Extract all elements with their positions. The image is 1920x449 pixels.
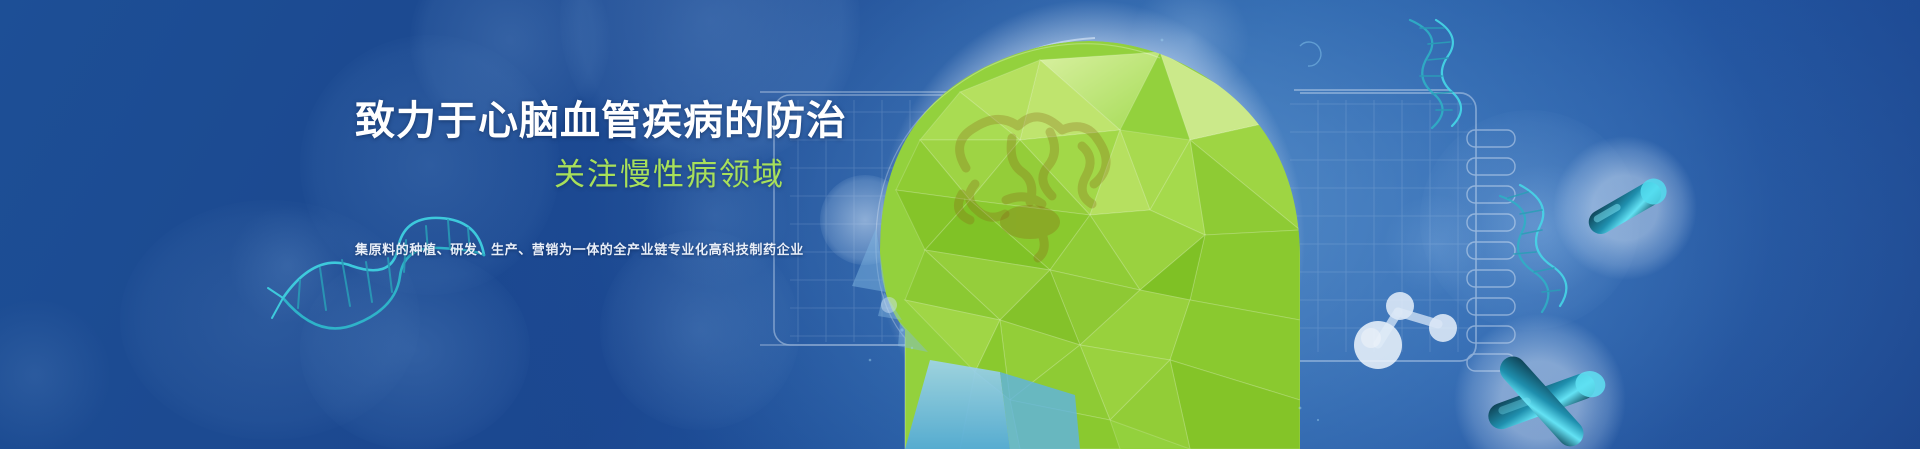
bokeh-circle (228, 205, 348, 325)
micro-specks (869, 39, 1319, 422)
banner-copy: 致力于心脑血管疾病的防治 关注慢性病领域 集原料的种植、研发、生产、营销为一体的… (355, 96, 785, 258)
bokeh-circle (820, 175, 910, 265)
bokeh-circle (1130, 0, 1250, 100)
chromosome-rod (1553, 136, 1697, 280)
micro-ring (1300, 42, 1321, 66)
bokeh-circle (1385, 195, 1485, 295)
face-profile-edge (845, 44, 1160, 449)
head-halo (875, 0, 1305, 449)
head-outline-arc (916, 38, 1095, 449)
low-poly-human-head-profile (880, 41, 1300, 449)
chromosome-x (1454, 314, 1626, 449)
dna-helix-right (1500, 185, 1566, 312)
bokeh-circle (300, 250, 530, 449)
bokeh-circle (1480, 165, 1610, 295)
molecule-icon (1354, 292, 1457, 369)
hero-banner: 致力于心脑血管疾病的防治 关注慢性病领域 集原料的种植、研发、生产、营销为一体的… (0, 0, 1920, 449)
neck-shoulder (905, 360, 1080, 449)
page-subtitle: 关注慢性病领域 (355, 152, 785, 199)
brain-overlay (958, 117, 1106, 220)
headline-suffix: 的防治 (724, 99, 847, 143)
headline-prefix: 致力于 (355, 99, 478, 143)
hud-left-bars (932, 148, 1004, 262)
headline-highlight: 心脑血管疾病 (478, 99, 724, 143)
bokeh-circle (1420, 110, 1640, 330)
page-tagline: 集原料的种植、研发、生产、营销为一体的全产业链专业化高科技制药企业 (355, 239, 785, 258)
face-feature-carve (852, 228, 928, 352)
artwork-layer (0, 0, 1920, 449)
page-title: 致力于心脑血管疾病的防治 (355, 96, 785, 146)
hud-panel-right (1150, 90, 1515, 371)
hud-right-bars (1467, 130, 1515, 371)
bokeh-circle (600, 230, 800, 430)
brainstem (1000, 205, 1060, 258)
dna-helix-top-right (1410, 20, 1461, 128)
bokeh-circle (0, 300, 110, 449)
